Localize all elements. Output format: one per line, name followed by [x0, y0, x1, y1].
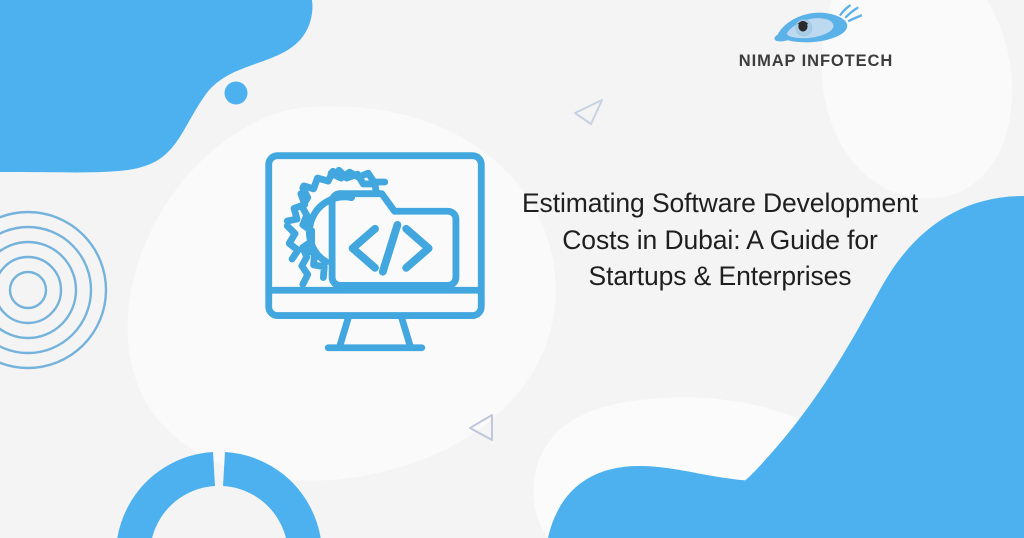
blue-dot: [225, 82, 248, 105]
page-title-line-1: Estimating Software Development: [496, 185, 944, 222]
brand-name: NIMAP INFOTECH: [726, 52, 906, 71]
eye-icon: [770, 4, 862, 50]
blog-banner: NIMAP INFOTECH E: [0, 0, 1024, 538]
page-title-line-2: Costs in Dubai: A Guide for: [496, 222, 944, 259]
page-title-line-3: Startups & Enterprises: [496, 258, 944, 295]
monitor-gear-code-folder-icon: [258, 143, 492, 377]
code-glyph: [353, 225, 429, 272]
brand-logo[interactable]: NIMAP INFOTECH: [726, 4, 906, 71]
page-title: Estimating Software Development Costs in…: [496, 185, 944, 295]
